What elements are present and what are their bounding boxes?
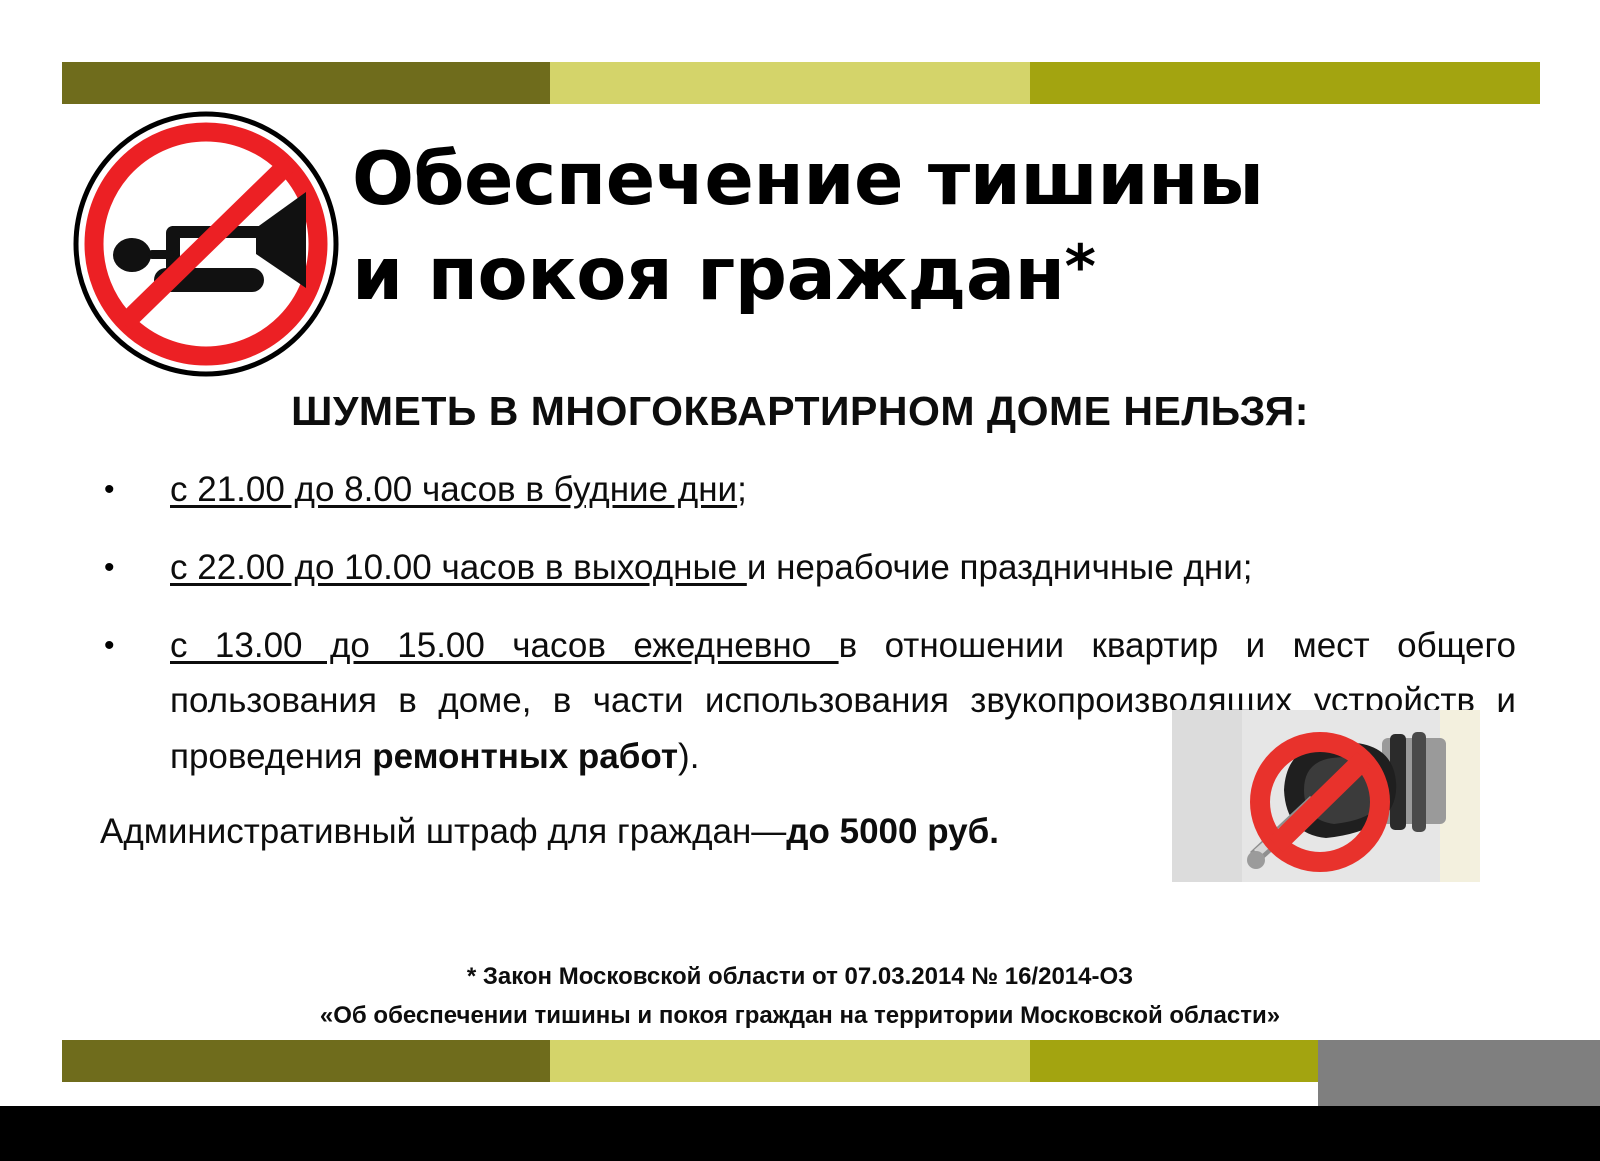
bullet-marker: • <box>96 540 170 596</box>
title-block: Обеспечение тишины и покоя граждан* <box>352 142 1472 312</box>
subtitle: ШУМЕТЬ В МНОГОКВАРТИРНОМ ДОМЕ НЕЛЬЗЯ: <box>0 388 1600 435</box>
footnote-line-2: «Об обеспечении тишины и покоя граждан н… <box>0 997 1600 1036</box>
penalty-label: Административный штраф для граждан— <box>100 812 786 851</box>
title-footnote-marker: * <box>1065 232 1096 302</box>
footnote-line-1: * Закон Московской области от 07.03.2014… <box>0 958 1600 997</box>
bullet-marker: • <box>96 462 170 518</box>
bar-segment-light <box>550 1040 1030 1082</box>
page-title-line-1: Обеспечение тишины <box>352 142 1472 217</box>
bar-segment-light <box>550 62 1030 104</box>
rule-tail: ). <box>678 737 699 776</box>
no-trumpet-icon <box>70 108 342 380</box>
slide-canvas: Обеспечение тишины и покоя граждан* ШУМЕ… <box>0 0 1600 1161</box>
rule-emphasis: ремонтных работ <box>372 737 678 776</box>
no-drilling-photo <box>1172 710 1480 882</box>
rule-time-range: с 21.00 до 8.00 часов в будние дни <box>170 470 737 509</box>
bar-segment-dark <box>62 62 550 104</box>
list-item-text: с 21.00 до 8.00 часов в будние дни; <box>170 462 1516 517</box>
rule-tail: и нерабочие праздничные дни; <box>747 548 1253 587</box>
rule-time-range: с 22.00 до 10.00 часов в выходные <box>170 548 747 587</box>
bar-segment-mid <box>1030 62 1540 104</box>
bar-segment-dark <box>62 1040 550 1082</box>
list-item-text: с 22.00 до 10.00 часов в выходные и нера… <box>170 540 1516 595</box>
top-decorative-bar <box>62 62 1540 104</box>
penalty-amount: до 5000 руб. <box>786 812 999 851</box>
bottom-black-strip <box>0 1106 1600 1161</box>
list-item: • с 21.00 до 8.00 часов в будние дни; <box>96 462 1516 518</box>
rule-time-range: с 13.00 до 15.00 часов ежедневно <box>170 626 839 665</box>
footnote: * Закон Московской области от 07.03.2014… <box>0 958 1600 1036</box>
rule-tail: ; <box>737 470 747 509</box>
page-title-line-2: и покоя граждан* <box>352 237 1472 312</box>
penalty-line: Административный штраф для граждан—до 50… <box>100 812 999 852</box>
bottom-right-gray-block <box>1318 1040 1600 1106</box>
page-title-line-2-text: и покоя граждан <box>352 232 1065 317</box>
list-item: • с 22.00 до 10.00 часов в выходные и не… <box>96 540 1516 596</box>
bullet-marker: • <box>96 618 170 674</box>
